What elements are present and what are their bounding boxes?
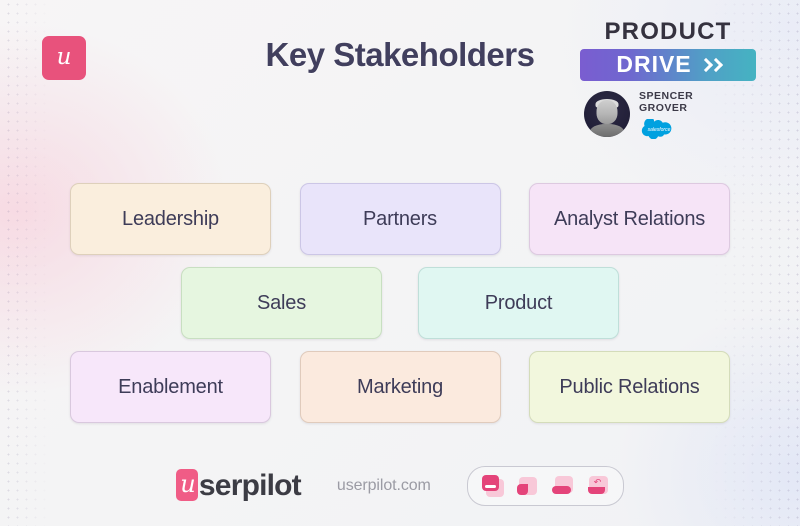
speaker-name: SPENCER GROVER (639, 90, 693, 115)
stakeholder-row-1: Leadership Partners Analyst Relations (70, 183, 730, 255)
banner-icon[interactable] (552, 475, 574, 497)
stakeholder-card-marketing[interactable]: Marketing (300, 351, 501, 423)
stakeholder-card-label: Analyst Relations (554, 208, 705, 231)
tooltip-icon[interactable]: ↶ (587, 475, 609, 497)
stakeholder-row-2: Sales Product (70, 267, 730, 339)
speaker-meta: SPENCER GROVER salesforce (639, 90, 693, 139)
product-drive-product-label: PRODUCT (580, 20, 756, 44)
salesforce-logo: salesforce (639, 119, 679, 139)
stakeholder-card-analyst-relations[interactable]: Analyst Relations (529, 183, 730, 255)
product-drive-badge: DRIVE (580, 49, 756, 81)
speaker-block: SPENCER GROVER salesforce (580, 90, 756, 139)
userpilot-wordmark: u serpilot (176, 469, 301, 503)
slideout-icon[interactable] (517, 475, 539, 497)
speaker-avatar (584, 91, 630, 137)
double-chevron-right-icon (701, 59, 720, 72)
stakeholder-card-enablement[interactable]: Enablement (70, 351, 271, 423)
svg-text:salesforce: salesforce (648, 127, 671, 133)
userpilot-wordmark-text: serpilot (199, 469, 301, 503)
site-url: userpilot.com (337, 477, 431, 495)
experience-types-pill: ↶ (467, 466, 624, 506)
dot-grid-decoration-left (4, 0, 50, 526)
product-drive-lockup: PRODUCT DRIVE SPENCER GROVER salesforce (580, 20, 756, 139)
stakeholder-card-product[interactable]: Product (418, 267, 619, 339)
stakeholder-card-label: Marketing (357, 376, 443, 399)
stakeholder-card-label: Leadership (122, 208, 219, 231)
stakeholder-card-label: Partners (363, 208, 437, 231)
stakeholder-grid: Leadership Partners Analyst Relations Sa… (70, 183, 730, 435)
userpilot-u-badge: u (176, 469, 198, 501)
product-drive-drive-label: DRIVE (616, 53, 691, 76)
stakeholder-card-partners[interactable]: Partners (300, 183, 501, 255)
stakeholder-card-label: Product (485, 292, 553, 315)
stakeholder-row-3: Enablement Marketing Public Relations (70, 351, 730, 423)
stakeholder-card-public-relations[interactable]: Public Relations (529, 351, 730, 423)
stakeholder-card-label: Enablement (118, 376, 223, 399)
stakeholder-card-leadership[interactable]: Leadership (70, 183, 271, 255)
slide-canvas: u Key Stakeholders PRODUCT DRIVE SPENCER… (0, 0, 800, 526)
stakeholder-card-label: Sales (257, 292, 306, 315)
stakeholder-card-label: Public Relations (559, 376, 699, 399)
modal-icon[interactable] (482, 475, 504, 497)
stakeholder-card-sales[interactable]: Sales (181, 267, 382, 339)
footer: u serpilot userpilot.com ↶ (0, 466, 800, 506)
